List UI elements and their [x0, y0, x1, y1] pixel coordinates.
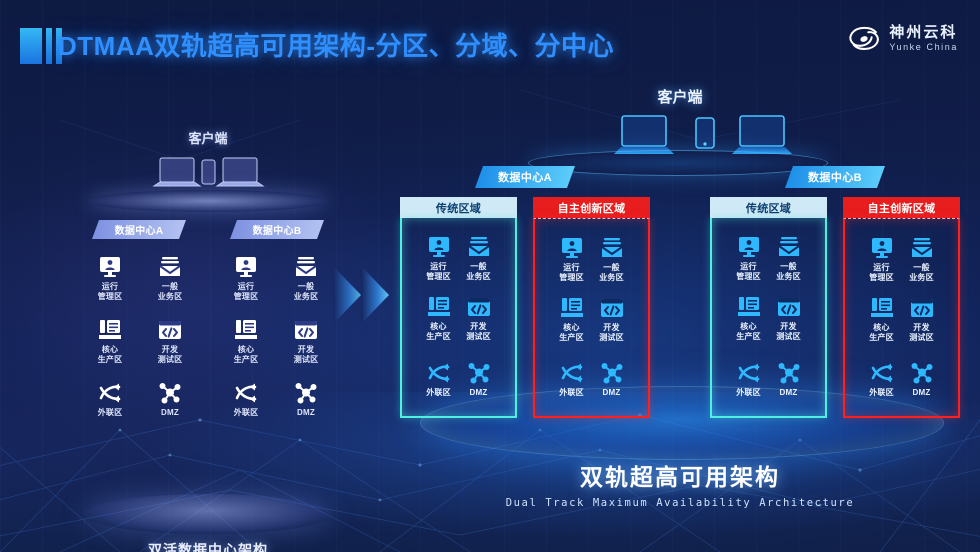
- zone-content: 运行 管理区 一般 业务区 核心 生产区: [400, 218, 517, 418]
- zone-item[interactable]: 外联区: [559, 361, 585, 398]
- zone-item[interactable]: 核心 生产区: [233, 318, 259, 365]
- network-nodes-icon: [599, 361, 625, 385]
- logo-name-en: Yunke China: [889, 43, 958, 52]
- zone-item[interactable]: 外联区: [426, 361, 452, 398]
- zone-label: DMZ: [297, 408, 315, 418]
- left-datacenter-columns: 数据中心A 数据中心B 运行 管理区 一般 业务区 核心: [78, 220, 338, 418]
- right-client-label: 客户端: [550, 86, 810, 107]
- zone-label: 运行 管理区: [234, 282, 259, 302]
- network-nodes-icon: [776, 361, 802, 385]
- zone-label: 开发 测试区: [158, 345, 183, 365]
- zone-item[interactable]: 运行 管理区: [869, 236, 895, 283]
- zone-item[interactable]: 一般 业务区: [599, 236, 625, 283]
- zone-item[interactable]: 运行 管理区: [426, 235, 452, 282]
- right-datacenter-chip-a[interactable]: 数据中心A: [475, 166, 575, 188]
- zone-label: 外联区: [736, 388, 761, 398]
- zone-label: 运行 管理区: [869, 263, 894, 283]
- arrows-cross-icon: [233, 381, 259, 405]
- zone-label: DMZ: [470, 388, 488, 398]
- zone-item[interactable]: DMZ: [293, 381, 319, 418]
- right-caption: 双轨超高可用架构 Dual Track Maximum Availability…: [470, 458, 890, 509]
- zone-item[interactable]: 开发 测试区: [293, 318, 319, 365]
- zone-label: 外联区: [98, 408, 123, 418]
- monitor-user-icon: [426, 235, 452, 259]
- zone-item[interactable]: 核心 生产区: [559, 296, 585, 343]
- zone-item[interactable]: 开发 测试区: [599, 296, 625, 343]
- code-window-icon: [293, 318, 319, 342]
- server-doc-icon: [426, 295, 452, 319]
- zone-item[interactable]: 核心 生产区: [869, 296, 895, 343]
- zone-label: 外联区: [234, 408, 259, 418]
- inbox-stack-icon: [909, 236, 935, 260]
- zone-traditional: 传统区域 运行 管理区 一般 业务区: [400, 197, 517, 418]
- arrows-cross-icon: [869, 361, 895, 385]
- code-window-icon: [599, 296, 625, 320]
- zone-label: DMZ: [603, 388, 621, 398]
- zone-item[interactable]: 开发 测试区: [466, 295, 492, 342]
- arrows-cross-icon: [736, 361, 762, 385]
- zone-label: DMZ: [913, 388, 931, 398]
- zone-label: 一般 业务区: [294, 282, 319, 302]
- zone-item[interactable]: 开发 测试区: [909, 296, 935, 343]
- zone-label: 外联区: [559, 388, 584, 398]
- arrows-cross-icon: [97, 381, 123, 405]
- left-base-podium: [84, 494, 332, 534]
- right-datacenter-blocks: 数据中心A 传统区域 运行 管理区: [400, 166, 960, 418]
- zone-item[interactable]: 开发 测试区: [776, 295, 802, 342]
- right-caption-en: Dual Track Maximum Availability Architec…: [470, 497, 890, 509]
- code-window-icon: [909, 296, 935, 320]
- page-title: DTMAA双轨超高可用架构-分区、分域、分中心: [58, 26, 614, 63]
- monitor-user-icon: [233, 255, 259, 279]
- server-doc-icon: [97, 318, 123, 342]
- zone-item[interactable]: 核心 生产区: [736, 295, 762, 342]
- zone-label: 开发 测试区: [466, 322, 491, 342]
- zone-label: 开发 测试区: [599, 323, 624, 343]
- left-datacenter-chip-b[interactable]: 数据中心B: [230, 220, 324, 239]
- zone-item[interactable]: 核心 生产区: [97, 318, 123, 365]
- zone-label: 外联区: [426, 388, 451, 398]
- right-architecture-group: 客户端 数据中心A: [400, 86, 960, 506]
- code-window-icon: [776, 295, 802, 319]
- right-datacenter-b: 数据中心B 传统区域 运行 管理区: [710, 166, 960, 418]
- zone-item[interactable]: 一般 业务区: [776, 235, 802, 282]
- zone-item[interactable]: 一般 业务区: [157, 255, 183, 302]
- left-architecture-group: 客户端 数据中心A 数据中心B 运行 管理区: [78, 128, 338, 458]
- zone-item[interactable]: DMZ: [776, 361, 802, 398]
- zone-content: 运行 管理区 一般 业务区 核心 生产区: [843, 218, 960, 418]
- network-nodes-icon: [293, 381, 319, 405]
- zone-title: 自主创新区域: [843, 197, 960, 218]
- inbox-stack-icon: [599, 236, 625, 260]
- zone-innovation: 自主创新区域 运行 管理区 一般 业务区: [843, 197, 960, 418]
- zone-label: 一般 业务区: [776, 262, 801, 282]
- zone-title: 传统区域: [400, 197, 517, 218]
- code-window-icon: [157, 318, 183, 342]
- zone-label: 核心 生产区: [234, 345, 259, 365]
- right-datacenter-chip-b[interactable]: 数据中心B: [785, 166, 885, 188]
- zone-label: 核心 生产区: [559, 323, 584, 343]
- zone-item[interactable]: 运行 管理区: [97, 255, 123, 302]
- zone-label: 开发 测试区: [294, 345, 319, 365]
- zone-item[interactable]: 外联区: [233, 381, 259, 418]
- slide-header: DTMAA双轨超高可用架构-分区、分域、分中心 神州云科 Yunke China: [0, 0, 980, 92]
- zone-item[interactable]: 运行 管理区: [559, 236, 585, 283]
- monitor-user-icon: [736, 235, 762, 259]
- zone-item[interactable]: 运行 管理区: [736, 235, 762, 282]
- zone-content: 运行 管理区 一般 业务区 核心 生产区: [710, 218, 827, 418]
- zone-item[interactable]: DMZ: [157, 381, 183, 418]
- zone-content: 运行 管理区 一般 业务区 核心 生产区: [533, 218, 650, 418]
- zone-title: 自主创新区域: [533, 197, 650, 218]
- server-doc-icon: [233, 318, 259, 342]
- inbox-stack-icon: [776, 235, 802, 259]
- zone-label: 开发 测试区: [909, 323, 934, 343]
- zone-traditional: 传统区域 运行 管理区 一般 业务区: [710, 197, 827, 418]
- zone-item[interactable]: DMZ: [599, 361, 625, 398]
- server-doc-icon: [869, 296, 895, 320]
- brand-logo: 神州云科 Yunke China: [847, 24, 958, 54]
- right-datacenter-a: 数据中心A 传统区域 运行 管理区: [400, 166, 650, 418]
- code-window-icon: [466, 295, 492, 319]
- zone-innovation: 自主创新区域 运行 管理区 一般 业务区: [533, 197, 650, 418]
- arrows-cross-icon: [559, 361, 585, 385]
- zone-label: 一般 业务区: [158, 282, 183, 302]
- zone-item[interactable]: 开发 测试区: [157, 318, 183, 365]
- monitor-user-icon: [869, 236, 895, 260]
- right-caption-cn: 双轨超高可用架构: [470, 458, 890, 492]
- zone-label: 核心 生产区: [736, 322, 761, 342]
- inbox-stack-icon: [293, 255, 319, 279]
- zone-label: 外联区: [869, 388, 894, 398]
- zone-label: 一般 业务区: [909, 263, 934, 283]
- header-accent-bars-icon: [20, 28, 62, 64]
- zone-label: 运行 管理区: [736, 262, 761, 282]
- zone-label: 运行 管理区: [426, 262, 451, 282]
- inbox-stack-icon: [157, 255, 183, 279]
- network-nodes-icon: [466, 361, 492, 385]
- zone-label: 一般 业务区: [466, 262, 491, 282]
- zone-item[interactable]: DMZ: [466, 361, 492, 398]
- zone-item[interactable]: 外联区: [97, 381, 123, 418]
- zone-title: 传统区域: [710, 197, 827, 218]
- network-nodes-icon: [157, 381, 183, 405]
- zone-item[interactable]: 运行 管理区: [233, 255, 259, 302]
- slide-canvas: DTMAA双轨超高可用架构-分区、分域、分中心 神州云科 Yunke China…: [0, 0, 980, 552]
- zone-item[interactable]: DMZ: [909, 361, 935, 398]
- galaxy-swirl-icon: [847, 24, 881, 54]
- left-dc-a-zone-grid: 运行 管理区 一般 业务区 核心 生产区 开发 测试区: [80, 255, 200, 418]
- zone-label: 核心 生产区: [869, 323, 894, 343]
- zone-item[interactable]: 核心 生产区: [426, 295, 452, 342]
- zone-label: DMZ: [161, 408, 179, 418]
- zone-label: 运行 管理区: [559, 263, 584, 283]
- left-client-platform: [88, 190, 328, 212]
- zone-label: DMZ: [780, 388, 798, 398]
- zone-label: 核心 生产区: [98, 345, 123, 365]
- zone-item[interactable]: 一般 业务区: [909, 236, 935, 283]
- server-doc-icon: [736, 295, 762, 319]
- inbox-stack-icon: [466, 235, 492, 259]
- zone-item[interactable]: 一般 业务区: [293, 255, 319, 302]
- network-nodes-icon: [909, 361, 935, 385]
- zone-item[interactable]: 一般 业务区: [466, 235, 492, 282]
- zone-label: 运行 管理区: [98, 282, 123, 302]
- zone-label: 开发 测试区: [776, 322, 801, 342]
- left-datacenter-chip-a[interactable]: 数据中心A: [92, 220, 186, 239]
- zone-item[interactable]: 外联区: [736, 361, 762, 398]
- arrows-cross-icon: [426, 361, 452, 385]
- monitor-user-icon: [97, 255, 123, 279]
- left-client-label: 客户端: [78, 128, 338, 147]
- monitor-user-icon: [559, 236, 585, 260]
- logo-name-cn: 神州云科: [889, 25, 958, 41]
- left-dc-b-zone-grid: 运行 管理区 一般 业务区 核心 生产区 开发 测试区: [216, 255, 336, 418]
- left-caption: 双活数据中心架构: [78, 540, 338, 552]
- zone-label: 核心 生产区: [426, 322, 451, 342]
- zone-item[interactable]: 外联区: [869, 361, 895, 398]
- zone-label: 一般 业务区: [599, 263, 624, 283]
- server-doc-icon: [559, 296, 585, 320]
